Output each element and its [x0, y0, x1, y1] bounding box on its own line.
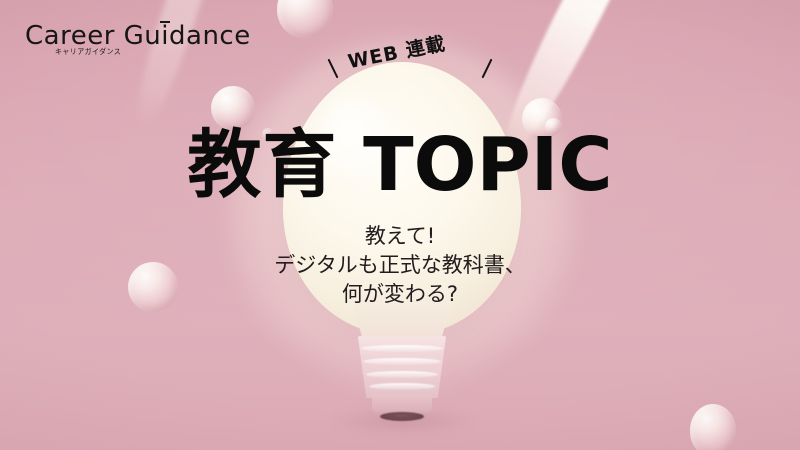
bulb-thread: [366, 371, 438, 378]
logo-wordmark-tail: dance: [169, 21, 251, 51]
bulb-contact-point: [380, 412, 424, 421]
logo-macron-letter: i: [161, 23, 169, 49]
subtitle-line-1: 教えて!: [0, 222, 800, 251]
bulb-thread: [369, 383, 435, 390]
education-topic-banner: Career Guidance キャリアガイダンス WEB 連載 教育 TOPI…: [0, 0, 800, 450]
career-guidance-logo[interactable]: Career Guidance キャリアガイダンス: [25, 23, 251, 49]
subtitle-line-3: 何が変わる?: [0, 280, 800, 309]
page-title: 教育 TOPIC: [0, 128, 800, 202]
badge-label: WEB 連載: [345, 29, 447, 74]
subtitle-line-2: デジタルも正式な教科書、: [0, 251, 800, 280]
page-subtitle: 教えて! デジタルも正式な教科書、 何が変わる?: [0, 222, 800, 309]
bulb-thread: [363, 358, 441, 365]
water-droplet-icon: [690, 404, 736, 450]
logo-wordmark: Career Guidance: [25, 23, 251, 49]
page-title-japanese: 教育: [187, 122, 337, 208]
page-title-latin: TOPIC: [337, 122, 612, 208]
bulb-screw-base: [355, 336, 449, 398]
web-series-badge: WEB 連載: [318, 34, 504, 88]
bulb-thread: [361, 345, 443, 352]
badge-slash-left-icon: [327, 59, 338, 79]
badge-slash-right-icon: [481, 59, 492, 79]
logo-katakana-subtitle: キャリアガイダンス: [55, 47, 121, 58]
